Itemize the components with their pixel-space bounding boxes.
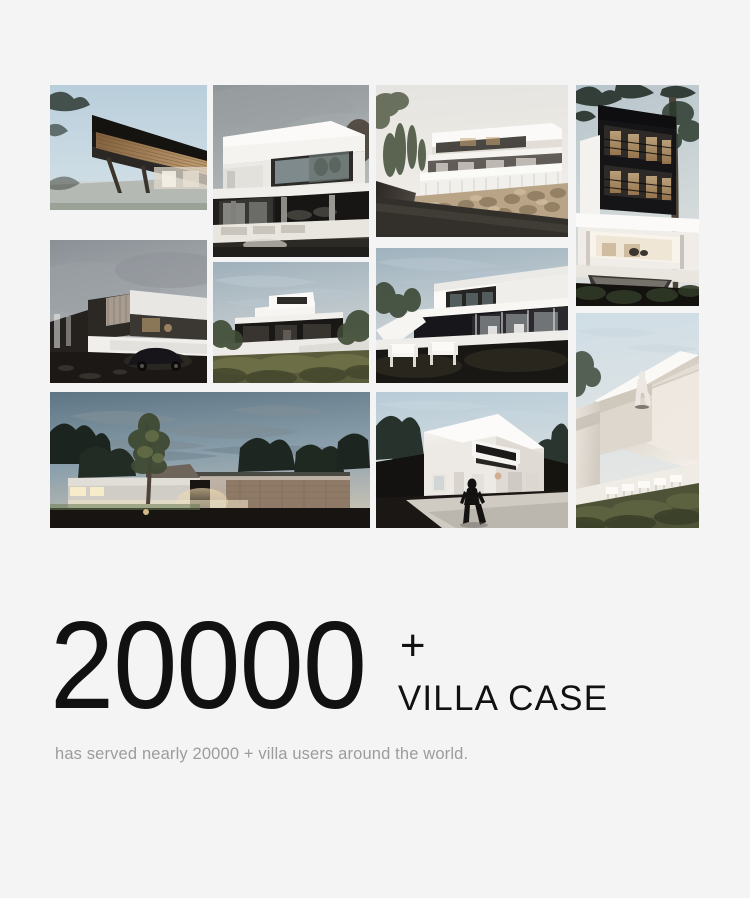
gallery-photo-7[interactable]	[376, 248, 568, 383]
gallery-photo-6[interactable]	[376, 85, 568, 237]
gallery-photo-10[interactable]	[576, 313, 699, 528]
gallery-photo-4[interactable]	[213, 85, 369, 257]
villa-photo-black-louvered	[576, 85, 699, 306]
villa-photo-dark-cantilever	[50, 85, 207, 210]
villa-case-photo-grid	[50, 85, 699, 528]
villa-photo-terraced-stonewall	[376, 85, 568, 237]
stat-headline-row: 20000 + VILLA CASE	[50, 600, 710, 718]
stat-suffix-column: + VILLA CASE	[398, 622, 608, 718]
villa-count-number: 20000	[50, 614, 366, 718]
villa-photo-glass-facade-chairs	[376, 248, 568, 383]
gallery-photo-2[interactable]	[50, 240, 207, 383]
villa-photo-white-lawn	[213, 262, 369, 383]
villa-case-label: VILLA CASE	[398, 681, 608, 716]
gallery-photo-5[interactable]	[213, 262, 369, 383]
villa-case-page: 20000 + VILLA CASE has served nearly 200…	[0, 0, 750, 898]
villa-case-stats: 20000 + VILLA CASE has served nearly 200…	[50, 600, 710, 764]
villa-photo-night-tree	[50, 392, 370, 528]
villa-photo-white-canopy-figure	[576, 313, 699, 528]
villa-photo-grey-dusk	[50, 240, 207, 383]
villa-case-subtitle: has served nearly 20000 + villa users ar…	[55, 745, 710, 764]
gallery-photo-9[interactable]	[576, 85, 699, 306]
plus-sign: +	[400, 624, 608, 668]
villa-photo-walking-person	[376, 392, 568, 528]
gallery-photo-3[interactable]	[50, 392, 370, 528]
gallery-photo-8[interactable]	[376, 392, 568, 528]
gallery-photo-1[interactable]	[50, 85, 207, 210]
villa-photo-white-cantilever	[213, 85, 369, 257]
